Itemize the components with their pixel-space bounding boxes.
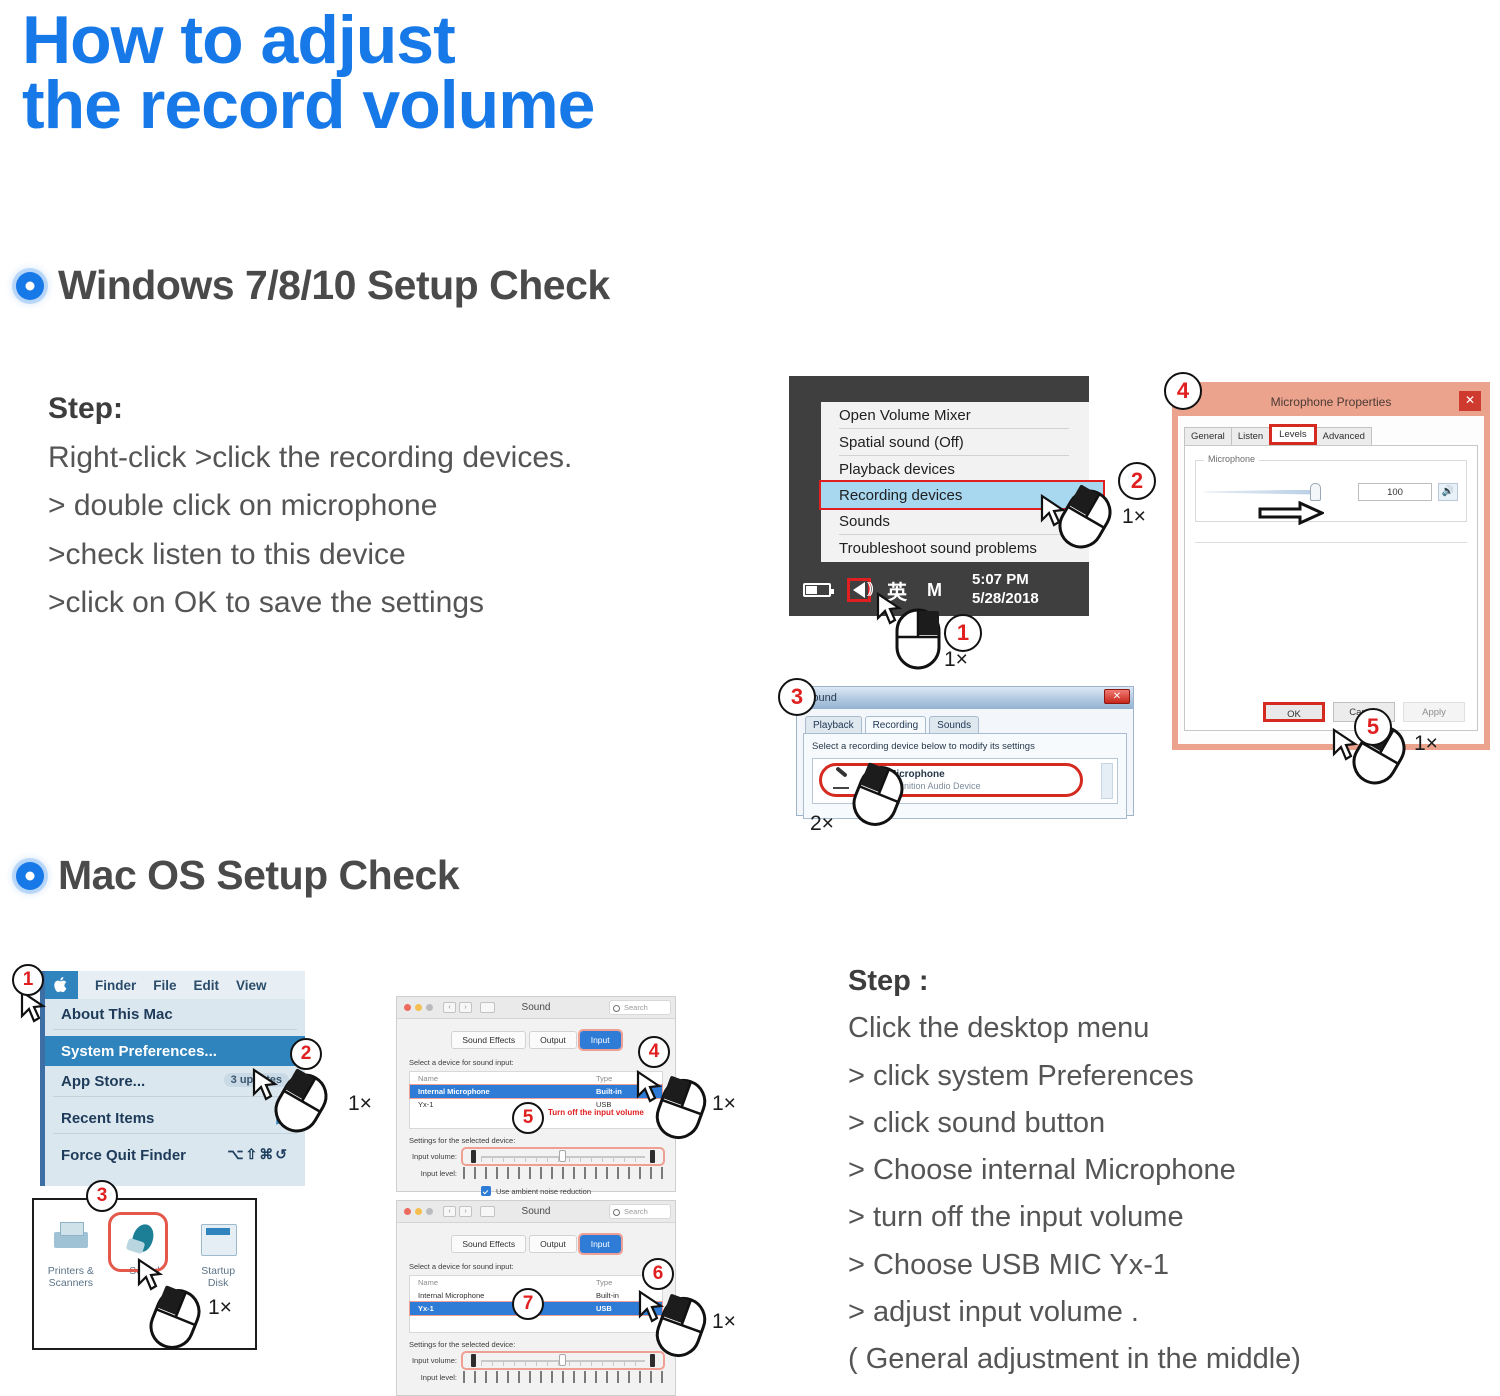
clock-time: 5:07 PM: [972, 571, 1039, 590]
menu-item-label: Playback devices: [839, 461, 955, 478]
menubar-item-view[interactable]: View: [236, 978, 267, 993]
table-row-internal-microphone[interactable]: Internal Microphone Built-in: [410, 1085, 662, 1098]
tab-advanced[interactable]: Advanced: [1316, 427, 1372, 445]
annotation-turn-off-input-volume: Turn off the input volume: [548, 1108, 644, 1117]
click-count-1x: 1×: [712, 1310, 736, 1334]
click-count-1x: 1×: [1414, 732, 1438, 756]
menu-item-system-preferences[interactable]: System Preferences...: [45, 1036, 305, 1066]
close-icon[interactable]: ✕: [1104, 689, 1130, 704]
mute-speaker-icon[interactable]: 🔊: [1438, 483, 1458, 501]
input-volume-slider[interactable]: [463, 1353, 663, 1368]
menu-item-label: Open Volume Mixer: [839, 407, 971, 424]
column-header-name: Name: [418, 1074, 596, 1083]
step-badge-7-mac: 7: [512, 1288, 544, 1320]
sound-dialog-titlebar: Sound ✕: [797, 687, 1133, 709]
ok-button[interactable]: OK: [1263, 702, 1325, 722]
mouse-cursor-arrow: [250, 1068, 280, 1102]
menubar-item-edit[interactable]: Edit: [194, 978, 220, 993]
volume-context-menu[interactable]: Open Volume Mixer Spatial sound (Off) Pl…: [821, 402, 1089, 562]
mac-step-line: > turn off the input volume: [848, 1194, 1500, 1241]
microphone-icon: [832, 768, 856, 792]
step-badge-5-mac: 5: [512, 1102, 544, 1134]
scrollbar[interactable]: [1101, 763, 1113, 799]
pref-item-label: Printers & Scanners: [40, 1265, 102, 1289]
microphone-level-group: Microphone 100 🔊: [1195, 460, 1467, 522]
input-volume-row: Input volume:: [409, 1353, 663, 1368]
search-input[interactable]: Search: [609, 1000, 671, 1015]
tab-levels[interactable]: Levels: [1269, 424, 1316, 445]
dialog-tabs[interactable]: General Listen Levels Advanced: [1178, 416, 1484, 445]
mac-menubar: Finder File Edit View: [45, 971, 305, 999]
menu-divider: [45, 1029, 305, 1036]
menu-item-force-quit-finder[interactable]: Force Quit Finder ⌥⇧⌘↺: [45, 1140, 305, 1170]
tab-sound-effects[interactable]: Sound Effects: [451, 1031, 526, 1049]
step-badge-2-mac: 2: [290, 1038, 322, 1070]
mac-step-line: > click system Preferences: [848, 1053, 1500, 1100]
panel-body: Select a device for sound input: Name Ty…: [397, 1253, 675, 1383]
dialog-title: Microphone Properties: [1271, 395, 1392, 409]
step-badge-2: 2: [1118, 462, 1156, 500]
section-heading-mac-label: Mac OS Setup Check: [58, 852, 459, 899]
tab-listen[interactable]: Listen: [1231, 427, 1270, 445]
menu-item-troubleshoot-sound[interactable]: Troubleshoot sound problems: [821, 535, 1089, 561]
slider-min-icon: [471, 1354, 476, 1367]
ambient-noise-label: Use ambient noise reduction: [496, 1187, 591, 1196]
search-input[interactable]: Search: [609, 1204, 671, 1219]
mac-step-line: > Choose USB MIC Yx-1: [848, 1242, 1500, 1289]
input-level-label: Input level:: [409, 1373, 463, 1382]
click-count-1x: 1×: [712, 1092, 736, 1116]
section-heading-mac: Mac OS Setup Check: [16, 852, 459, 899]
device-name: Internal Microphone: [418, 1087, 596, 1096]
device-select-hint: Select a device for sound input:: [409, 1058, 663, 1067]
apple-menu-button[interactable]: [45, 971, 78, 999]
tab-playback[interactable]: Playback: [805, 716, 862, 733]
click-count-1x: 1×: [1122, 505, 1146, 529]
tab-sound-effects[interactable]: Sound Effects: [451, 1235, 526, 1253]
dialog-buttons[interactable]: OK Cancel Apply: [1191, 700, 1471, 724]
device-select-hint: Select a device for sound input:: [409, 1262, 663, 1271]
input-level-row: Input level:: [409, 1167, 663, 1179]
menu-item-label: App Store...: [61, 1073, 145, 1090]
mouse-cursor-arrow: [634, 1070, 664, 1104]
sound-tabs[interactable]: Sound Effects Output Input: [397, 1019, 675, 1049]
mac-step-line: > click sound button: [848, 1100, 1500, 1147]
sound-dialog-hint: Select a recording device below to modif…: [812, 741, 1118, 752]
sound-dialog-screenshot: Sound ✕ Playback Recording Sounds Select…: [796, 686, 1134, 816]
bullet-icon: [16, 272, 44, 300]
menu-item-about-this-mac[interactable]: About This Mac: [45, 999, 305, 1029]
menu-item-label: Spatial sound (Off): [839, 434, 964, 451]
window-titlebar: ‹ › Sound Search: [397, 1201, 675, 1223]
settings-label: Settings for the selected device:: [409, 1340, 663, 1349]
dialog-titlebar: Microphone Properties ✕: [1178, 388, 1484, 416]
tab-output[interactable]: Output: [529, 1235, 577, 1253]
step-badge-3-mac: 3: [86, 1180, 118, 1212]
input-volume-row: Input volume:: [409, 1149, 663, 1164]
menu-divider: [45, 1133, 305, 1140]
sound-dialog-tabs[interactable]: Playback Recording Sounds: [797, 709, 1133, 733]
checkbox-checked-icon[interactable]: [481, 1186, 491, 1196]
volume-speaker-icon[interactable]: [847, 578, 871, 602]
menu-item-label: System Preferences...: [61, 1043, 217, 1060]
input-volume-label: Input volume:: [409, 1152, 463, 1161]
mouse-cursor-arrow: [874, 592, 904, 626]
mac-step-line: > Choose internal Microphone: [848, 1147, 1500, 1194]
column-header-name: Name: [418, 1278, 596, 1287]
mouse-cursor-arrow: [1038, 494, 1068, 528]
menu-item-playback-devices[interactable]: Playback devices: [821, 456, 1089, 482]
battery-icon[interactable]: [803, 583, 831, 597]
slider-min-icon: [471, 1150, 476, 1163]
level-value-field[interactable]: 100: [1358, 483, 1432, 501]
step-badge-3: 3: [778, 678, 816, 716]
tab-general[interactable]: General: [1184, 427, 1232, 445]
pref-item-label: Startup Disk: [187, 1265, 249, 1289]
slider-max-icon: [650, 1354, 655, 1367]
input-level-label: Input level:: [409, 1169, 463, 1178]
menu-item-spatial-sound[interactable]: Spatial sound (Off): [821, 429, 1089, 455]
levels-tab-panel: Microphone 100 🔊 OK Cancel Apply: [1184, 445, 1478, 731]
mac-step-line: Click the desktop menu: [848, 1005, 1500, 1052]
windows-step-line: Right-click >click the recording devices…: [48, 434, 748, 483]
device-name: Internal Microphone: [418, 1291, 596, 1300]
click-count-1x: 1×: [208, 1296, 232, 1320]
page-title: How to adjust the record volume: [22, 8, 922, 137]
clock-date: 5/28/2018: [972, 590, 1039, 609]
menu-item-label: Sounds: [839, 513, 890, 530]
input-volume-slider[interactable]: [463, 1149, 663, 1164]
step-badge-4-mac: 4: [638, 1036, 670, 1068]
step-badge-1-mac: 1: [12, 964, 44, 996]
slider-max-icon: [650, 1150, 655, 1163]
device-name: Yx-1: [418, 1304, 596, 1313]
printer-icon: [48, 1218, 94, 1260]
input-level-row: Input level:: [409, 1371, 663, 1383]
windows-step-line: >click on OK to save the settings: [48, 579, 748, 628]
clock[interactable]: 5:07 PM 5/28/2018: [972, 571, 1039, 609]
input-level-meter: [463, 1167, 663, 1179]
input-volume-label: Input volume:: [409, 1356, 463, 1365]
mac-step-line: > adjust input volume .: [848, 1289, 1500, 1336]
bullet-icon: [16, 862, 44, 890]
divider: [1195, 542, 1467, 543]
click-count-1x: 1×: [348, 1092, 372, 1116]
menubar-item-file[interactable]: File: [153, 978, 176, 993]
menu-item-label: Recent Items: [61, 1110, 154, 1127]
tab-input[interactable]: Input: [580, 1031, 621, 1049]
microphone-level-slider[interactable]: [1204, 483, 1354, 501]
keyboard-shortcut: ⌥⇧⌘↺: [227, 1146, 289, 1163]
step-badge-4: 4: [1164, 372, 1202, 410]
tab-recording[interactable]: Recording: [865, 716, 927, 733]
mac-step-line: ( General adjustment in the middle): [848, 1336, 1500, 1383]
group-label: Microphone: [1204, 454, 1259, 464]
apple-logo-icon: [54, 976, 69, 994]
slider-thumb[interactable]: [559, 1150, 566, 1162]
section-heading-windows: Windows 7/8/10 Setup Check: [16, 262, 610, 309]
microphone-properties-dialog: Microphone Properties ✕ General Listen L…: [1172, 382, 1490, 750]
windows-step-line: > double click on microphone: [48, 482, 748, 531]
mouse-cursor-arrow: [636, 1290, 666, 1324]
step-badge-5: 5: [1354, 708, 1392, 746]
mac-steps-header: Step :: [848, 958, 1500, 1005]
tab-input[interactable]: Input: [580, 1235, 621, 1253]
mac-steps-block: Step : Click the desktop menu > click sy…: [848, 958, 1500, 1383]
menu-item-label: Troubleshoot sound problems: [839, 540, 1037, 557]
settings-label: Settings for the selected device:: [409, 1136, 663, 1145]
menubar-item-finder[interactable]: Finder: [95, 978, 136, 993]
step-badge-6-mac: 6: [642, 1258, 674, 1290]
tab-output[interactable]: Output: [529, 1031, 577, 1049]
menu-item-open-volume-mixer[interactable]: Open Volume Mixer: [821, 402, 1089, 428]
menu-item-label: Force Quit Finder: [61, 1147, 186, 1164]
mouse-cursor-arrow: [135, 1258, 165, 1292]
tab-sounds[interactable]: Sounds: [929, 716, 979, 733]
pointing-arrow-icon: [1258, 501, 1324, 525]
section-heading-windows-label: Windows 7/8/10 Setup Check: [58, 262, 610, 309]
startup-disk-icon: [195, 1218, 241, 1260]
table-header-row: Name Type: [410, 1276, 662, 1289]
apply-button[interactable]: Apply: [1403, 702, 1465, 722]
menu-item-label: About This Mac: [61, 1006, 173, 1023]
pref-item-printers-scanners[interactable]: Printers & Scanners: [40, 1218, 102, 1289]
close-icon[interactable]: ✕: [1459, 391, 1481, 411]
sound-tabs[interactable]: Sound Effects Output Input: [397, 1223, 675, 1253]
windows-step-line: >check listen to this device: [48, 531, 748, 580]
pref-item-startup-disk[interactable]: Startup Disk: [187, 1218, 249, 1289]
click-count-2x: 2×: [810, 812, 834, 836]
window-titlebar: ‹ › Sound Search: [397, 997, 675, 1019]
page-title-line-1: How to adjust: [22, 8, 922, 73]
page-title-line-2: the record volume: [22, 73, 922, 138]
ambient-noise-checkbox-row[interactable]: Use ambient noise reduction: [409, 1186, 663, 1196]
step-badge-1: 1: [944, 614, 982, 652]
windows-steps-header: Step:: [48, 385, 748, 434]
windows-steps-block: Step: Right-click >click the recording d…: [48, 385, 748, 628]
slider-thumb[interactable]: [559, 1354, 566, 1366]
input-level-meter: [463, 1371, 663, 1383]
table-header-row: Name Type: [410, 1072, 662, 1085]
ime-mode-indicator[interactable]: M: [927, 580, 942, 601]
menu-item-label: Recording devices: [839, 487, 962, 504]
slider-thumb[interactable]: [1310, 483, 1321, 501]
